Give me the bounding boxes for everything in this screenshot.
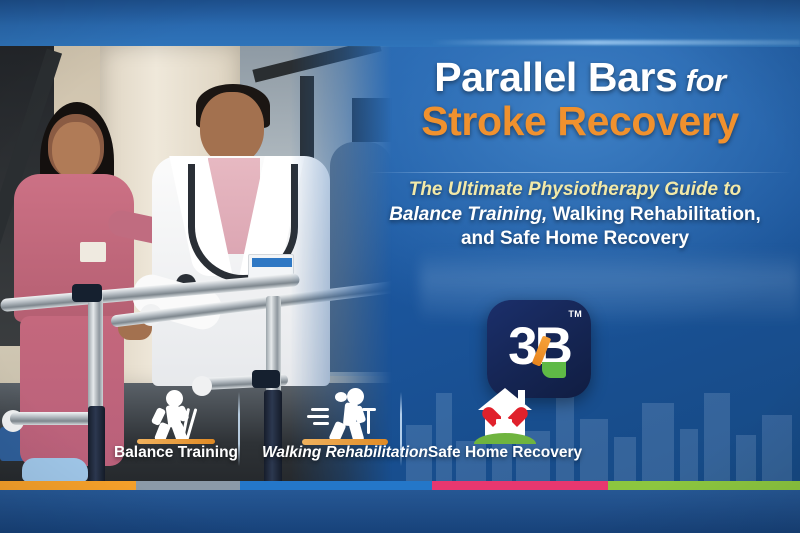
medical-cross-horizontal xyxy=(496,419,512,424)
feature-safe-home-recovery[interactable]: Safe Home Recovery xyxy=(414,386,596,462)
parallel-bar-rail-left xyxy=(10,412,96,425)
background-highlight-streak xyxy=(430,40,800,45)
feature-divider-1 xyxy=(238,392,240,466)
patient-face xyxy=(52,122,100,180)
title-main-text: Parallel Bars xyxy=(434,54,677,100)
feature-walking-rehabilitation[interactable]: Walking Rehabilitation xyxy=(252,386,438,462)
feature-label-safe-home-recovery: Safe Home Recovery xyxy=(414,444,596,462)
bottom-panel xyxy=(0,490,800,533)
subtitle-safe-home-recovery: Safe Home Recovery xyxy=(500,228,689,249)
parallel-bar-clamp-1 xyxy=(72,284,102,302)
headline-divider-rule xyxy=(368,172,792,173)
walker-figure-ground-bar xyxy=(302,439,388,445)
title-line-one: Parallel Bars for xyxy=(370,56,790,99)
feature-balance-training[interactable]: Balance Training xyxy=(92,386,260,462)
walking-with-walker-icon xyxy=(252,386,438,444)
patient-badge xyxy=(80,242,106,262)
accent-segment-4 xyxy=(432,481,608,490)
feature-label-walking-rehabilitation: Walking Rehabilitation xyxy=(252,444,438,462)
motion-line-3 xyxy=(313,422,329,425)
walker-frame-post xyxy=(367,408,370,434)
house-grass-mound xyxy=(474,433,536,444)
house-shape xyxy=(478,388,532,438)
title-line-two: Stroke Recovery xyxy=(370,100,790,143)
trademark-symbol: TM xyxy=(568,309,582,319)
subtitle-line-one: The Ultimate Physiotherapy Guide to xyxy=(350,178,800,203)
headline-block: Parallel Bars for Stroke Recovery xyxy=(370,56,790,144)
accent-segment-3 xyxy=(240,481,432,490)
walker-figure-ponytail xyxy=(335,392,347,402)
subtitle-walking-rehabilitation: Walking Rehabilitation, xyxy=(553,204,761,225)
bottom-panel-sheen xyxy=(0,490,800,533)
house-with-heart-icon xyxy=(414,386,596,444)
poster-root: Parallel Bars for Stroke Recovery The Ul… xyxy=(0,0,800,533)
subtitle-line-three: and Safe Home Recovery xyxy=(350,227,800,252)
motion-line-2 xyxy=(307,415,329,418)
subtitle-and-word: and xyxy=(461,228,495,249)
subtitle-line-two: Balance Training, Walking Rehabilitation… xyxy=(350,203,800,228)
cane-figure-ground-bar xyxy=(137,439,215,444)
background-cloud-haze xyxy=(420,250,800,320)
doctor-head xyxy=(200,92,264,164)
accent-segment-2 xyxy=(136,481,240,490)
accent-color-bar xyxy=(0,481,800,490)
subtitle-balance-training: Balance Training, xyxy=(389,204,547,225)
motion-line-1 xyxy=(311,408,329,411)
feature-divider-2 xyxy=(400,392,402,466)
accent-segment-5 xyxy=(608,481,800,490)
walker-frame-handle xyxy=(362,408,376,411)
subtitle-cream-text: The Ultimate Physiotherapy Guide to xyxy=(409,179,742,200)
brand-logo-3b[interactable]: TM 3B xyxy=(487,300,591,398)
accent-segment-1 xyxy=(0,481,136,490)
walking-with-cane-icon xyxy=(92,386,260,444)
logo-green-wedge-icon xyxy=(542,362,566,378)
photo-background-person xyxy=(330,142,392,372)
feature-label-balance-training: Balance Training xyxy=(92,444,260,462)
patient-shoe xyxy=(22,458,88,482)
feature-strip: Balance Training Walking Rehabilitation xyxy=(92,386,692,482)
title-for-word: for xyxy=(677,63,725,98)
subtitle-block: The Ultimate Physiotherapy Guide to Bala… xyxy=(350,178,800,252)
